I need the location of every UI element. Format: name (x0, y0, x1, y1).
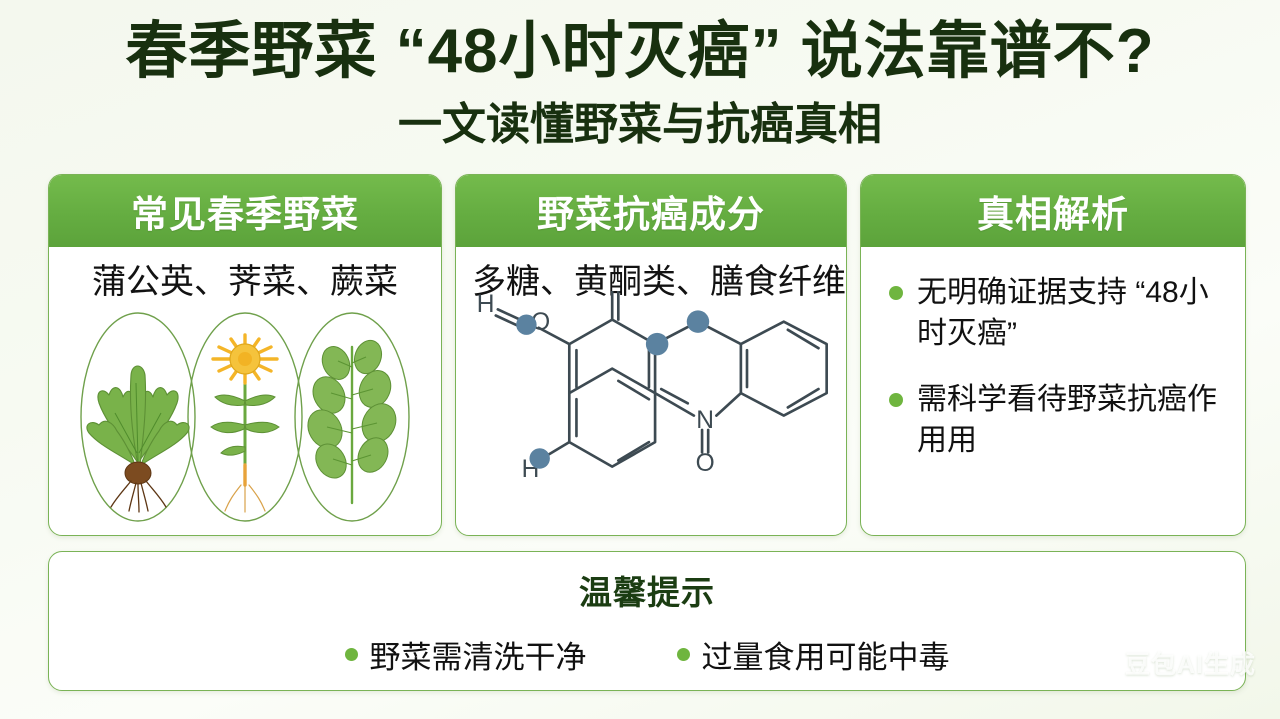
card-title-veggies: 常见春季野菜 (131, 184, 359, 238)
roots (225, 485, 265, 512)
card-body-tips: 温馨提示 野菜需清洗干净 过量食用可能中毒 (49, 552, 1245, 685)
molecule-atom-labels: O O H H N O (477, 291, 715, 483)
page-title: 春季野菜 “48小时灭癌” 说法靠谱不? (0, 16, 1280, 87)
card-title-compounds: 野菜抗癌成分 (537, 184, 765, 238)
tip-text-2: 过量食用可能中毒 (702, 632, 950, 677)
list-item: 过量食用可能中毒 (677, 632, 950, 677)
atom-label-H-topleft: H (477, 291, 495, 318)
atom-label-N: N (696, 407, 714, 434)
card-header-veggies: 常见春季野菜 (49, 175, 441, 247)
truth-bullet-list: 无明确证据支持 “48小时灭癌” 需科学看待野菜抗癌作用用 (883, 273, 1229, 461)
card-body-veggies: 蒲公英、荠菜、蕨菜 (49, 247, 441, 535)
page-subtitle: 一文读懂野菜与抗癌真相 (0, 100, 1280, 151)
truth-bullet-1: 无明确证据支持 “48小时灭癌” (917, 273, 1229, 354)
bullet-dot-icon (345, 648, 358, 661)
card-header-compounds: 野菜抗癌成分 (456, 175, 846, 247)
card-body-truth: 无明确证据支持 “48小时灭癌” 需科学看待野菜抗癌作用用 (861, 247, 1245, 535)
bullet-dot-icon (889, 393, 903, 407)
plant-compound-leaf (301, 337, 402, 503)
truth-bullet-2: 需科学看待野菜抗癌作用用 (917, 380, 1229, 461)
plant-dandelion-leaves (87, 366, 189, 512)
card-warm-tips: 温馨提示 野菜需清洗干净 过量食用可能中毒 (48, 551, 1246, 691)
list-item: 野菜需清洗干净 (345, 632, 587, 677)
bullet-dot-icon (677, 648, 690, 661)
card-truth-analysis: 真相解析 无明确证据支持 “48小时灭癌” 需科学看待野菜抗癌作用用 (860, 174, 1246, 536)
molecule-svg: O O H H N O (456, 291, 846, 531)
card-header-truth: 真相解析 (861, 175, 1245, 247)
card-anticancer-compounds: 野菜抗癌成分 多糖、黄酮类、膳食纤维 (455, 174, 847, 536)
chemical-structure-illustration: O O H H N O (456, 291, 846, 531)
list-item: 需科学看待野菜抗癌作用用 (883, 380, 1229, 461)
infographic-canvas: 春季野菜 “48小时灭癌” 说法靠谱不? 一文读懂野菜与抗癌真相 常见春季野菜 … (0, 0, 1280, 719)
atom-label-O-bottom: O (696, 450, 715, 477)
roots (111, 481, 166, 512)
tips-title: 温馨提示 (65, 566, 1229, 614)
tip-text-1: 野菜需清洗干净 (370, 632, 587, 677)
veggies-list-text: 蒲公英、荠菜、蕨菜 (65, 261, 425, 304)
tips-row: 野菜需清洗干净 过量食用可能中毒 (65, 632, 1229, 677)
dandelion-flower-head (213, 335, 277, 383)
root-crown (125, 462, 151, 484)
wild-vegetables-illustration (49, 303, 441, 533)
card-title-truth: 真相解析 (977, 184, 1129, 238)
card-common-spring-wild-vegetables: 常见春季野菜 蒲公英、荠菜、蕨菜 (48, 174, 442, 536)
plants-svg (49, 303, 441, 533)
card-body-compounds: 多糖、黄酮类、膳食纤维 (456, 247, 846, 535)
bullet-dot-icon (889, 286, 903, 300)
plant-dandelion-flower (211, 335, 279, 512)
list-item: 无明确证据支持 “48小时灭癌” (883, 273, 1229, 354)
